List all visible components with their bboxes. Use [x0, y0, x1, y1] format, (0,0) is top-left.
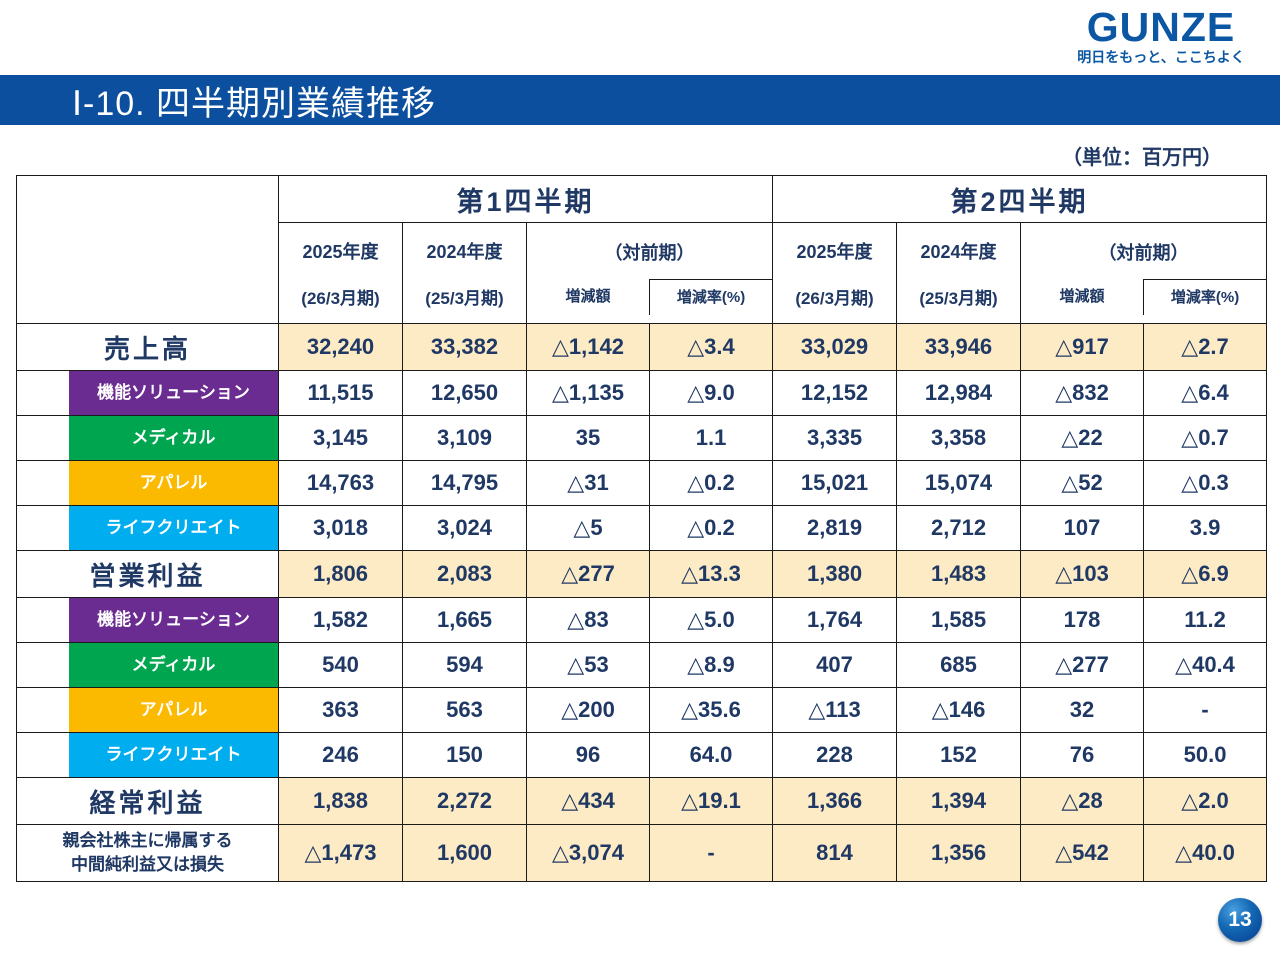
cell-q1-3: △3.4 — [650, 324, 773, 371]
table-row: 売上高32,24033,382△1,142△3.433,02933,946△91… — [17, 324, 1267, 371]
cell-q2-2: △277 — [1021, 643, 1144, 688]
q1-change-amount-label: 増減額 — [527, 279, 649, 315]
cell-q2-1: 3,358 — [897, 416, 1021, 461]
segment-chip-funcsol: 機能ソリューション — [69, 371, 278, 415]
cell-q2-2: △22 — [1021, 416, 1144, 461]
cell-q1-3: 1.1 — [650, 416, 773, 461]
cell-q2-3: △6.4 — [1144, 371, 1267, 416]
cell-q1-1: 563 — [403, 688, 527, 733]
cell-q2-1: 152 — [897, 733, 1021, 778]
subheader-q2-fy-current: 2025年度 (26/3月期) — [773, 223, 897, 324]
q2-fy-prior-year: 2024年度 — [897, 238, 1020, 264]
cell-q1-3: △0.2 — [650, 461, 773, 506]
q2-fy-current-year: 2025年度 — [773, 238, 896, 264]
cell-q1-0: 540 — [279, 643, 403, 688]
page-number-badge: 13 — [1218, 898, 1262, 942]
row-label-segment-6: 機能ソリューション — [17, 598, 279, 643]
cell-q1-2: 96 — [527, 733, 650, 778]
cell-q1-0: 32,240 — [279, 324, 403, 371]
cell-q2-2: 76 — [1021, 733, 1144, 778]
cell-q2-3: △2.0 — [1144, 778, 1267, 825]
table-row: 営業利益1,8062,083△277△13.31,3801,483△103△6.… — [17, 551, 1267, 598]
q1-fy-prior-period: (25/3月期) — [403, 284, 526, 309]
subheader-q2-fy-prior: 2024年度 (25/3月期) — [897, 223, 1021, 324]
gunze-logo: GUNZE 明日をもっと、ここちよく — [1056, 6, 1266, 66]
row-label-segment-8: アパレル — [17, 688, 279, 733]
q1-fy-current-period: (26/3月期) — [279, 284, 402, 309]
cell-q1-0: 363 — [279, 688, 403, 733]
cell-q1-2: △200 — [527, 688, 650, 733]
segment-chip-lifecreate: ライフクリエイト — [69, 733, 278, 777]
cell-q1-3: △0.2 — [650, 506, 773, 551]
subheader-q1-fy-current: 2025年度 (26/3月期) — [279, 223, 403, 324]
cell-q2-0: 33,029 — [773, 324, 897, 371]
cell-q2-0: 407 — [773, 643, 897, 688]
cell-q1-3: △9.0 — [650, 371, 773, 416]
cell-q2-1: 685 — [897, 643, 1021, 688]
cell-q1-0: 14,763 — [279, 461, 403, 506]
q2-fy-current-period: (26/3月期) — [773, 284, 896, 309]
table-body: 売上高32,24033,382△1,142△3.433,02933,946△91… — [17, 324, 1267, 882]
logo-tagline: 明日をもっと、ここちよく — [1056, 48, 1266, 66]
cell-q1-3: △35.6 — [650, 688, 773, 733]
cell-q1-1: 150 — [403, 733, 527, 778]
slide-title-bar: Ⅰ-10. 四半期別業績推移 — [0, 75, 1280, 125]
cell-q1-3: △5.0 — [650, 598, 773, 643]
cell-q1-1: 594 — [403, 643, 527, 688]
cell-q1-0: 1,806 — [279, 551, 403, 598]
subheader-q2-vs-prior: （対前期） 増減額 増減率(%) — [1021, 223, 1267, 324]
cell-q1-0: 3,145 — [279, 416, 403, 461]
cell-q1-2: △31 — [527, 461, 650, 506]
cell-q2-1: △146 — [897, 688, 1021, 733]
q2-change-amount-label: 増減額 — [1021, 279, 1143, 315]
cell-q1-3: △13.3 — [650, 551, 773, 598]
cell-q2-1: 1,585 — [897, 598, 1021, 643]
quarterly-results-table: 第1四半期 第2四半期 2025年度 (26/3月期) 2024年度 (25/3… — [16, 175, 1267, 882]
cell-q1-1: 1,665 — [403, 598, 527, 643]
row-label-segment-9: ライフクリエイト — [17, 733, 279, 778]
cell-q2-1: 1,483 — [897, 551, 1021, 598]
cell-q1-3: △19.1 — [650, 778, 773, 825]
cell-q2-0: 12,152 — [773, 371, 897, 416]
subheader-q1-vs-prior: （対前期） 増減額 増減率(%) — [527, 223, 773, 324]
cell-q2-2: 107 — [1021, 506, 1144, 551]
cell-q1-2: △3,074 — [527, 825, 650, 882]
cell-q1-0: △1,473 — [279, 825, 403, 882]
cell-q2-0: 228 — [773, 733, 897, 778]
cell-q2-0: 814 — [773, 825, 897, 882]
q2-vs-prior-label: （対前期） — [1021, 231, 1266, 279]
cell-q1-1: 3,109 — [403, 416, 527, 461]
cell-q2-0: 2,819 — [773, 506, 897, 551]
row-label-10: 経常利益 — [17, 778, 279, 825]
cell-q1-1: 14,795 — [403, 461, 527, 506]
segment-chip-apparel: アパレル — [69, 461, 278, 505]
q1-fy-prior-year: 2024年度 — [403, 238, 526, 264]
cell-q1-2: △277 — [527, 551, 650, 598]
segment-chip-funcsol: 機能ソリューション — [69, 598, 278, 642]
cell-q1-0: 11,515 — [279, 371, 403, 416]
cell-q1-1: 33,382 — [403, 324, 527, 371]
q2-change-rate-label: 増減率(%) — [1143, 279, 1266, 315]
cell-q1-1: 2,272 — [403, 778, 527, 825]
cell-q2-2: △28 — [1021, 778, 1144, 825]
cell-q1-1: 1,600 — [403, 825, 527, 882]
cell-q1-2: △5 — [527, 506, 650, 551]
cell-q2-3: 11.2 — [1144, 598, 1267, 643]
cell-q2-1: 12,984 — [897, 371, 1021, 416]
cell-q2-0: 1,366 — [773, 778, 897, 825]
table-row: メディカル3,1453,109351.13,3353,358△22△0.7 — [17, 416, 1267, 461]
q1-change-rate-label: 増減率(%) — [649, 279, 772, 315]
row-label-11: 親会社株主に帰属する中間純利益又は損失 — [17, 825, 279, 882]
row-label-0: 売上高 — [17, 324, 279, 371]
table-row: 機能ソリューション1,5821,665△83△5.01,7641,5851781… — [17, 598, 1267, 643]
cell-q2-0: 1,380 — [773, 551, 897, 598]
cell-q1-0: 1,582 — [279, 598, 403, 643]
cell-q2-2: 32 — [1021, 688, 1144, 733]
unit-note: （単位：百万円） — [1062, 141, 1222, 170]
segment-chip-lifecreate: ライフクリエイト — [69, 506, 278, 550]
cell-q2-3: 50.0 — [1144, 733, 1267, 778]
cell-q2-2: △52 — [1021, 461, 1144, 506]
table-header: 第1四半期 第2四半期 2025年度 (26/3月期) 2024年度 (25/3… — [17, 176, 1267, 324]
group-header-q1: 第1四半期 — [279, 176, 773, 223]
cell-q2-1: 2,712 — [897, 506, 1021, 551]
q1-vs-prior-label: （対前期） — [527, 231, 772, 279]
cell-q2-3: △2.7 — [1144, 324, 1267, 371]
logo-wordmark: GUNZE — [1056, 6, 1266, 48]
table-row: アパレル363563△200△35.6△113△14632- — [17, 688, 1267, 733]
row-label-segment-1: 機能ソリューション — [17, 371, 279, 416]
row-label-segment-3: アパレル — [17, 461, 279, 506]
cell-q2-1: 15,074 — [897, 461, 1021, 506]
cell-q2-3: △0.3 — [1144, 461, 1267, 506]
cell-q1-0: 3,018 — [279, 506, 403, 551]
segment-chip-medical: メディカル — [69, 416, 278, 460]
row-label-segment-4: ライフクリエイト — [17, 506, 279, 551]
table-row: アパレル14,76314,795△31△0.215,02115,074△52△0… — [17, 461, 1267, 506]
table-row: 経常利益1,8382,272△434△19.11,3661,394△28△2.0 — [17, 778, 1267, 825]
segment-chip-medical: メディカル — [69, 643, 278, 687]
cell-q1-0: 246 — [279, 733, 403, 778]
row-label-segment-7: メディカル — [17, 643, 279, 688]
group-header-q2: 第2四半期 — [773, 176, 1267, 223]
cell-q1-2: △1,142 — [527, 324, 650, 371]
cell-q1-2: △1,135 — [527, 371, 650, 416]
cell-q1-2: △53 — [527, 643, 650, 688]
cell-q2-1: 1,356 — [897, 825, 1021, 882]
table-row: メディカル540594△53△8.9407685△277△40.4 — [17, 643, 1267, 688]
row-label-segment-2: メディカル — [17, 416, 279, 461]
cell-q2-2: △917 — [1021, 324, 1144, 371]
row-label-5: 営業利益 — [17, 551, 279, 598]
cell-q2-2: 178 — [1021, 598, 1144, 643]
table-row: 機能ソリューション11,51512,650△1,135△9.012,15212,… — [17, 371, 1267, 416]
cell-q2-3: - — [1144, 688, 1267, 733]
cell-q1-1: 3,024 — [403, 506, 527, 551]
cell-q2-2: △832 — [1021, 371, 1144, 416]
cell-q2-3: △0.7 — [1144, 416, 1267, 461]
table-row: 親会社株主に帰属する中間純利益又は損失△1,4731,600△3,074-814… — [17, 825, 1267, 882]
cell-q1-1: 2,083 — [403, 551, 527, 598]
subheader-q1-fy-prior: 2024年度 (25/3月期) — [403, 223, 527, 324]
cell-q2-0: 15,021 — [773, 461, 897, 506]
header-corner-blank — [17, 176, 279, 324]
cell-q1-3: 64.0 — [650, 733, 773, 778]
cell-q2-1: 1,394 — [897, 778, 1021, 825]
cell-q1-2: △83 — [527, 598, 650, 643]
cell-q1-3: △8.9 — [650, 643, 773, 688]
cell-q2-3: 3.9 — [1144, 506, 1267, 551]
cell-q2-0: 3,335 — [773, 416, 897, 461]
cell-q2-3: △40.4 — [1144, 643, 1267, 688]
q1-fy-current-year: 2025年度 — [279, 238, 402, 264]
table-row: ライフクリエイト3,0183,024△5△0.22,8192,7121073.9 — [17, 506, 1267, 551]
cell-q1-0: 1,838 — [279, 778, 403, 825]
cell-q2-1: 33,946 — [897, 324, 1021, 371]
cell-q1-3: - — [650, 825, 773, 882]
table-row: ライフクリエイト2461509664.02281527650.0 — [17, 733, 1267, 778]
cell-q2-0: 1,764 — [773, 598, 897, 643]
cell-q2-2: △542 — [1021, 825, 1144, 882]
segment-chip-apparel: アパレル — [69, 688, 278, 732]
cell-q1-2: △434 — [527, 778, 650, 825]
cell-q2-0: △113 — [773, 688, 897, 733]
cell-q1-2: 35 — [527, 416, 650, 461]
cell-q1-1: 12,650 — [403, 371, 527, 416]
cell-q2-3: △40.0 — [1144, 825, 1267, 882]
cell-q2-3: △6.9 — [1144, 551, 1267, 598]
page-title: Ⅰ-10. 四半期別業績推移 — [72, 76, 436, 125]
q2-fy-prior-period: (25/3月期) — [897, 284, 1020, 309]
cell-q2-2: △103 — [1021, 551, 1144, 598]
